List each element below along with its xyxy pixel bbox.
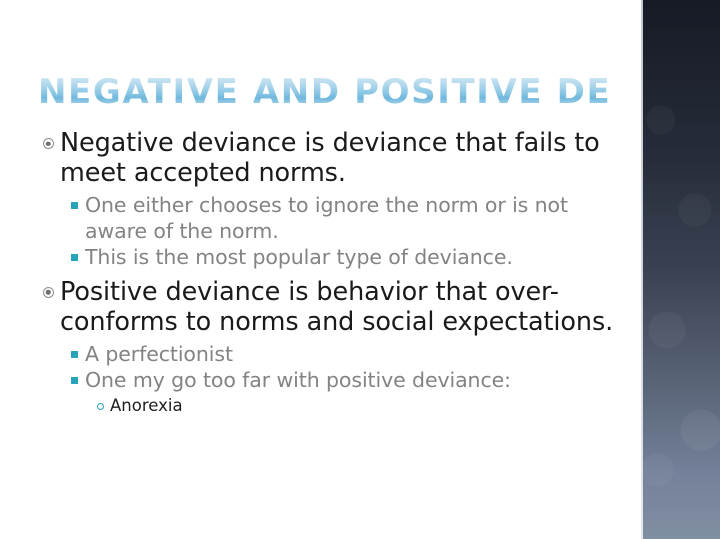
- bullet-text: One either chooses to ignore the norm or…: [85, 193, 616, 244]
- bullet-text: One my go too far with positive deviance…: [85, 368, 511, 394]
- ring-bullet-icon: [36, 128, 60, 149]
- bullet-item-level2: One either chooses to ignore the norm or…: [36, 193, 616, 244]
- square-bullet-icon: [63, 193, 85, 209]
- bullet-item-level1: Negative deviance is deviance that fails…: [36, 128, 616, 188]
- square-bullet-icon: [63, 245, 85, 261]
- bullet-item-level1: Positive deviance is behavior that over-…: [36, 277, 616, 337]
- bullet-item-level2: A perfectionist: [36, 342, 616, 368]
- ring-bullet-icon: [36, 277, 60, 298]
- bullet-item-level2: This is the most popular type of devianc…: [36, 245, 616, 271]
- square-bullet-icon: [63, 368, 85, 384]
- square-bullet-icon: [63, 342, 85, 358]
- hollow-circle-bullet-icon: [90, 395, 110, 410]
- bullet-item-level2: One my go too far with positive deviance…: [36, 368, 616, 394]
- bullet-text: Negative deviance is deviance that fails…: [60, 128, 616, 188]
- slide-canvas: Negative and Positive Deviance Negative …: [0, 0, 720, 539]
- slide-title: Negative and Positive Deviance: [38, 72, 608, 114]
- bullet-text: A perfectionist: [85, 342, 233, 368]
- bullet-text: Positive deviance is behavior that over-…: [60, 277, 616, 337]
- bullet-text: Anorexia: [110, 395, 183, 416]
- bullet-item-level3: Anorexia: [36, 395, 616, 416]
- bullet-text: This is the most popular type of devianc…: [85, 245, 513, 271]
- slide-body: Negative deviance is deviance that fails…: [36, 128, 616, 416]
